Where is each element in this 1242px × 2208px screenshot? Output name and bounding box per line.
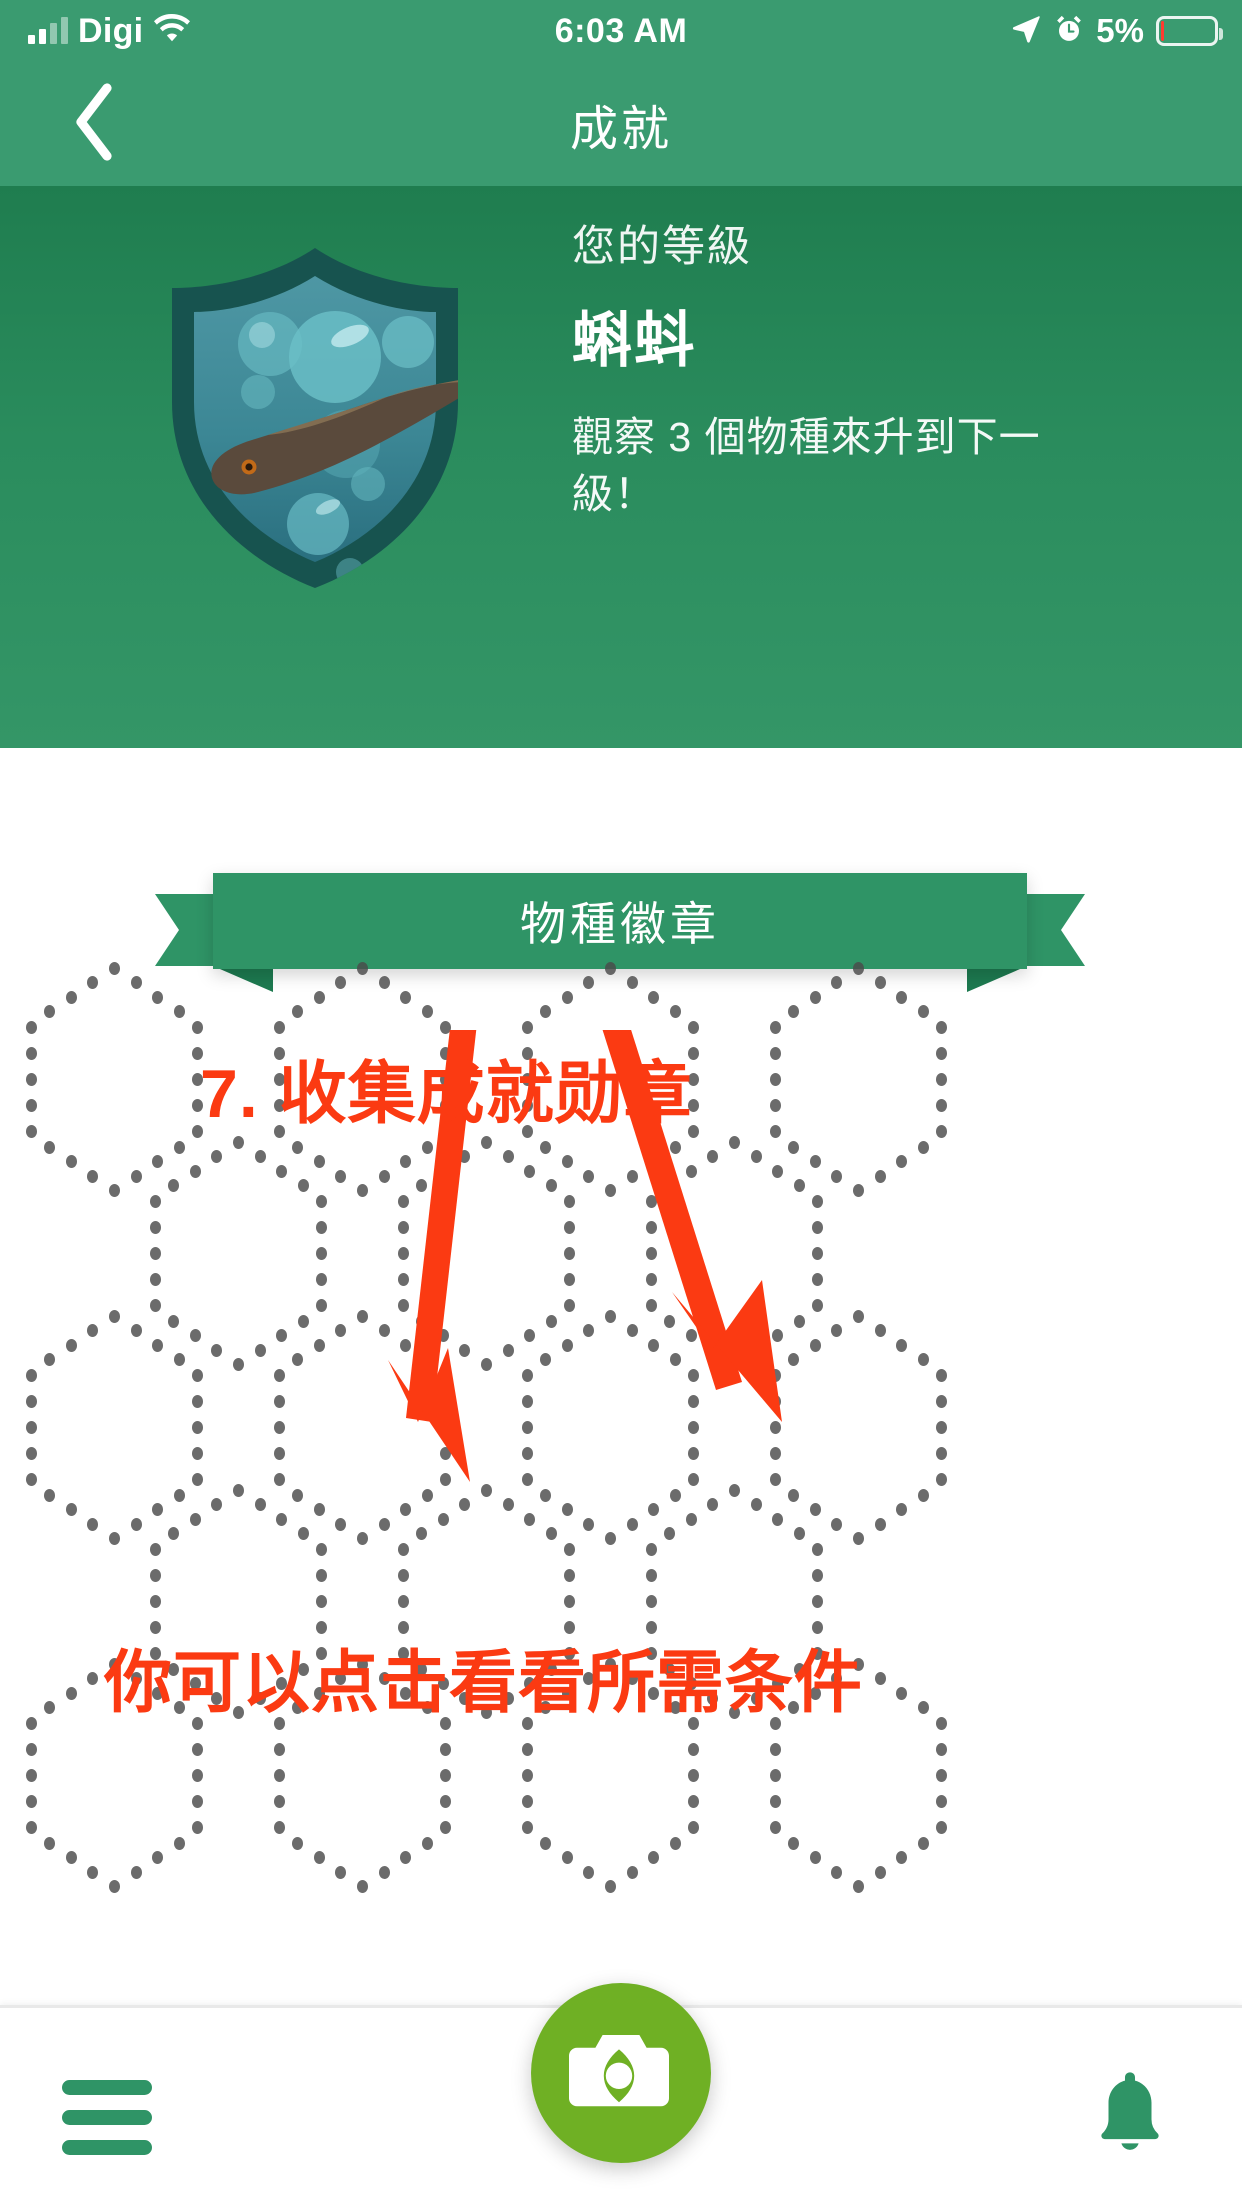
hex-outline-dot (174, 1837, 185, 1850)
hex-outline-dot (875, 976, 886, 989)
hex-outline-dot (335, 1866, 346, 1879)
hex-outline-dot (562, 1851, 573, 1864)
hex-outline-dot (400, 1851, 411, 1864)
hamburger-menu-icon-line-2 (62, 2110, 152, 2125)
hex-outline-dot (192, 1769, 203, 1782)
hex-outline-dot (314, 991, 325, 1004)
ribbon-fold-left (213, 966, 273, 992)
status-bar: Digi 6:03 AM 5% (0, 0, 1242, 62)
clock-label: 6:03 AM (555, 12, 688, 51)
level-label: 您的等級 (572, 226, 1192, 269)
hex-outline-dot (422, 1005, 433, 1018)
hex-outline-dot (109, 1880, 120, 1893)
level-card: 您的等級 蝌蚪 觀察 3 個物種來升到下一級！ (0, 186, 1242, 748)
hex-outline-dot (109, 962, 120, 975)
hex-outline-dot (853, 1880, 864, 1893)
hex-outline-dot (400, 991, 411, 1004)
hex-outline-dot (274, 1795, 285, 1808)
level-info: 您的等級 蝌蚪 觀察 3 個物種來升到下一級！ (572, 226, 1192, 522)
hex-outline-dot (770, 1769, 781, 1782)
hex-outline-dot (274, 1769, 285, 1782)
nav-bar: 成就 (0, 62, 1242, 186)
hex-outline-dot (274, 1743, 285, 1756)
hex-outline-dot (540, 1005, 551, 1018)
alarm-clock-icon (1054, 13, 1084, 50)
hex-outline-dot (562, 991, 573, 1004)
hex-outline-dot (66, 1851, 77, 1864)
hex-outline-dot (670, 1005, 681, 1018)
bottom-bar (0, 2005, 1242, 2208)
hex-outline-dot (87, 1672, 98, 1685)
hex-outline-dot (131, 1866, 142, 1879)
level-description: 觀察 3 個物種來升到下一級！ (572, 409, 1067, 522)
hex-outline-dot (648, 991, 659, 1004)
hex-outline-dot (522, 1795, 533, 1808)
hex-outline-dot (26, 1821, 37, 1834)
hex-outline-dot (688, 1795, 699, 1808)
location-arrow-icon (1010, 13, 1042, 50)
hex-outline-dot (831, 1866, 842, 1879)
hex-outline-dot (292, 1005, 303, 1018)
hex-outline-dot (936, 1743, 947, 1756)
hex-outline-dot (174, 1005, 185, 1018)
hex-outline-dot (770, 1743, 781, 1756)
hex-outline-dot (440, 1743, 451, 1756)
hex-outline-dot (522, 1769, 533, 1782)
hex-outline-dot (357, 1880, 368, 1893)
hex-outline-dot (853, 962, 864, 975)
hex-outline-dot (831, 976, 842, 989)
ribbon-fold-right (967, 966, 1027, 992)
hex-outline-dot (688, 1769, 699, 1782)
hex-outline-dot (440, 1795, 451, 1808)
camera-observe-icon (569, 2027, 673, 2120)
hex-outline-dot (522, 1821, 533, 1834)
hex-outline-dot (605, 1880, 616, 1893)
hex-outline-dot (26, 1769, 37, 1782)
hex-outline-dot (192, 1743, 203, 1756)
battery-percent-label: 5% (1096, 12, 1144, 50)
hex-outline-dot (274, 1821, 285, 1834)
hex-outline-dot (896, 1687, 907, 1700)
hex-outline-dot (87, 1866, 98, 1879)
ribbon-banner: 物種徽章 (213, 873, 1027, 969)
hex-outline-dot (918, 1701, 929, 1714)
hex-outline-dot (770, 1821, 781, 1834)
hex-outline-dot (335, 976, 346, 989)
hex-outline-dot (26, 1795, 37, 1808)
hex-outline-dot (440, 1769, 451, 1782)
hex-outline-dot (688, 1743, 699, 1756)
hex-outline-dot (540, 1837, 551, 1850)
hex-outline-dot (66, 1687, 77, 1700)
hamburger-menu-icon-line-3 (62, 2140, 152, 2155)
page-title: 成就 (0, 62, 1242, 186)
hex-outline-dot (357, 962, 368, 975)
hex-outline-dot (936, 1769, 947, 1782)
hex-outline-dot (583, 976, 594, 989)
hex-outline-dot (788, 1837, 799, 1850)
shield-tadpole-badge-icon (150, 232, 480, 602)
menu-button[interactable] (62, 2080, 160, 2156)
hex-outline-dot (314, 1851, 325, 1864)
hex-outline-dot (192, 1795, 203, 1808)
hex-outline-dot (422, 1837, 433, 1850)
hex-outline-dot (810, 1851, 821, 1864)
hex-outline-dot (26, 1743, 37, 1756)
hex-outline-dot (936, 1821, 947, 1834)
level-name: 蝌蚪 (572, 311, 1192, 371)
hex-outline-dot (66, 991, 77, 1004)
hex-outline-dot (44, 1005, 55, 1018)
hex-outline-dot (44, 1701, 55, 1714)
hex-outline-dot (896, 991, 907, 1004)
hex-outline-dot (936, 1795, 947, 1808)
hex-outline-dot (379, 976, 390, 989)
ribbon-label: 物種徽章 (520, 888, 720, 954)
hex-outline-dot (131, 976, 142, 989)
hex-outline-dot (87, 976, 98, 989)
annotation-tap-note: 你可以点击看看所需条件 (104, 1627, 863, 1726)
hex-outline-dot (670, 1837, 681, 1850)
hex-outline-dot (627, 976, 638, 989)
achievements-screen: Digi 6:03 AM 5% 成就 (0, 0, 1242, 2208)
hamburger-menu-icon-line-1 (62, 2080, 152, 2095)
hex-outline-dot (627, 1866, 638, 1879)
battery-icon (1156, 16, 1218, 46)
notifications-button[interactable] (1080, 2066, 1180, 2166)
hex-outline-dot (918, 1005, 929, 1018)
hex-outline-dot (896, 1851, 907, 1864)
hex-outline-dot (152, 991, 163, 1004)
hex-outline-dot (788, 1005, 799, 1018)
hex-outline-dot (770, 1795, 781, 1808)
hex-outline-dot (522, 1743, 533, 1756)
hex-outline-dot (192, 1821, 203, 1834)
hex-outline-dot (810, 991, 821, 1004)
hex-outline-dot (292, 1837, 303, 1850)
hex-outline-dot (648, 1851, 659, 1864)
hex-outline-dot (379, 1866, 390, 1879)
status-bar-right: 5% (1010, 0, 1218, 62)
hex-outline-dot (26, 1717, 37, 1730)
camera-observe-button[interactable] (531, 1983, 711, 2163)
hex-outline-dot (875, 1672, 886, 1685)
hex-outline-dot (152, 1851, 163, 1864)
hex-outline-dot (583, 1866, 594, 1879)
bell-notifications-icon (1087, 2066, 1173, 2167)
hex-outline-dot (918, 1837, 929, 1850)
hex-outline-dot (605, 962, 616, 975)
hex-outline-dot (936, 1717, 947, 1730)
annotation-step-note: 7. 收集成就勋章 (200, 1038, 693, 1137)
hex-outline-dot (875, 1866, 886, 1879)
hex-outline-dot (44, 1837, 55, 1850)
hex-outline-dot (688, 1821, 699, 1834)
hex-outline-dot (440, 1821, 451, 1834)
